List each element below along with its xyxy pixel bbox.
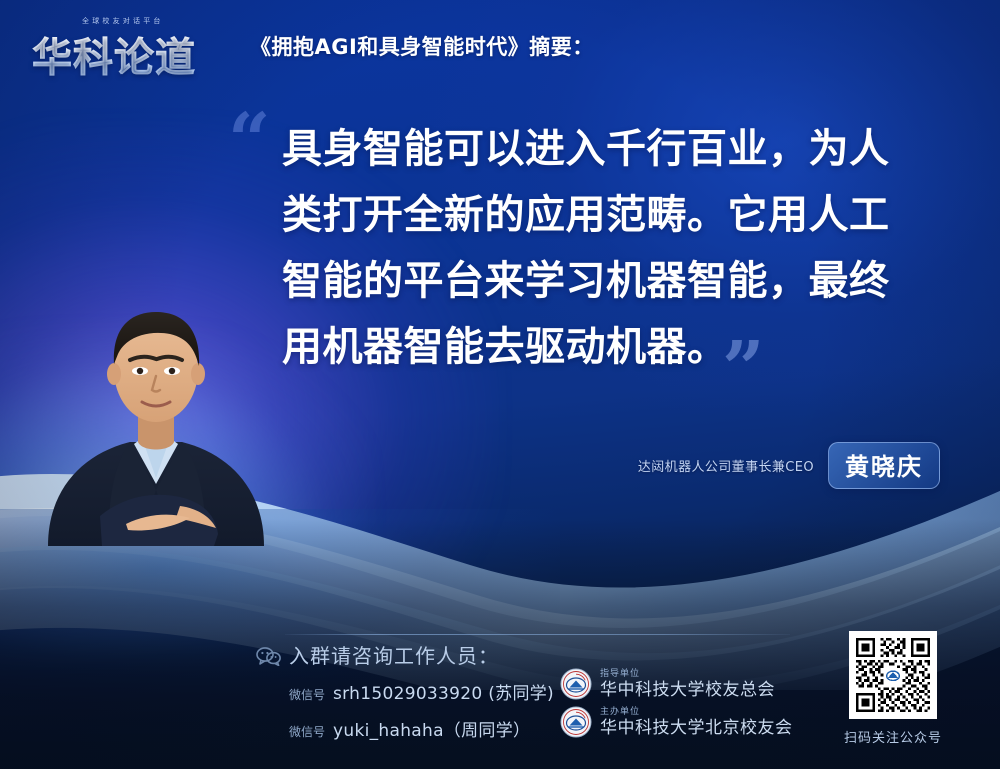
quote-line: 智能的平台来学习机器智能，最终	[282, 248, 942, 314]
contact-row: 微信号 yuki_hahaha（周同学）	[289, 716, 530, 741]
page-title: 《拥抱AGI和具身智能时代》摘要：	[250, 31, 594, 61]
contact-heading: 入群请咨询工作人员：	[289, 640, 499, 669]
contact-label: 微信号	[289, 723, 325, 740]
organization-name: 华中科技大学校友总会	[600, 682, 775, 699]
header-bar: 全球校友对话平台 华科论道 《拥抱AGI和具身智能时代》摘要：	[0, 0, 1000, 92]
organization-kind: 主办单位	[600, 708, 793, 717]
organization-name: 华中科技大学北京校友会	[600, 720, 793, 737]
qr-code-icon[interactable]	[849, 631, 937, 719]
logo-wordmark: 华科论道	[32, 25, 196, 83]
qr-caption: 扫码关注公众号	[838, 727, 948, 746]
wechat-icon	[256, 646, 282, 666]
quote-text: 具身智能可以进入千行百业，为人 类打开全新的应用范畴。它用人工 智能的平台来学习…	[282, 116, 942, 380]
quote-line: 具身智能可以进入千行百业，为人	[282, 116, 942, 182]
qr-block: 扫码关注公众号	[838, 631, 948, 746]
contact-row: 微信号 srh15029033920 (苏同学)	[289, 679, 554, 704]
contact-label: 微信号	[289, 686, 325, 703]
speaker-role: 达闼机器人公司董事长兼CEO	[638, 456, 814, 475]
footer-divider	[285, 634, 790, 635]
university-badge-icon	[560, 668, 592, 700]
organization-kind: 指导单位	[600, 670, 775, 679]
contact-value[interactable]: srh15029033920 (苏同学)	[333, 679, 554, 704]
organization-row: 主办单位 华中科技大学北京校友会	[560, 706, 793, 738]
speaker-name-badge: 黄晓庆	[828, 442, 940, 489]
brand-logo[interactable]: 全球校友对话平台 华科论道	[24, 14, 220, 78]
quote-mark-open-icon: “	[228, 104, 271, 178]
organizations-block: 指导单位 华中科技大学校友总会 主办单位 华中科技大学北京校友会	[560, 668, 793, 744]
quote-line: 用机器智能去驱动机器。	[282, 314, 942, 380]
university-badge-icon	[560, 706, 592, 738]
quote-line: 类打开全新的应用范畴。它用人工	[282, 182, 942, 248]
speaker-portrait	[30, 278, 280, 546]
contact-value[interactable]: yuki_hahaha（周同学）	[333, 716, 530, 741]
poster-root: 全球校友对话平台 华科论道 《拥抱AGI和具身智能时代》摘要：	[0, 0, 1000, 769]
attribution-block: 达闼机器人公司董事长兼CEO 黄晓庆	[560, 442, 940, 489]
quote-mark-close-icon: ”	[722, 332, 765, 406]
organization-row: 指导单位 华中科技大学校友总会	[560, 668, 793, 700]
